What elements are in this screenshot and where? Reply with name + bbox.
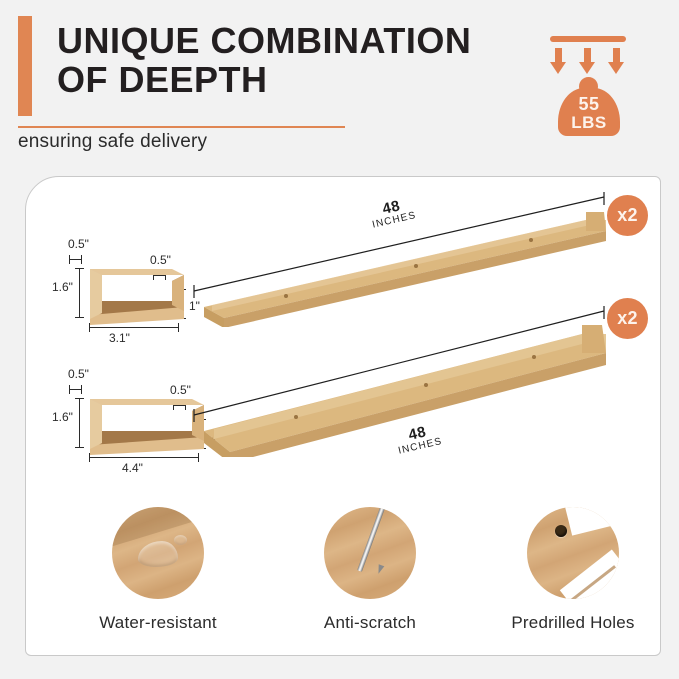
dim-top-left-thickness: 0.5" xyxy=(68,367,89,381)
wood-edge-corner xyxy=(560,550,619,599)
feature-label: Predrilled Holes xyxy=(483,613,663,633)
dim-marker-height xyxy=(79,268,80,318)
title-divider xyxy=(18,126,345,128)
dim-marker-width xyxy=(89,327,179,328)
weight-capacity-badge: 55 LBS xyxy=(540,26,660,138)
header: UNIQUE COMBINATION OF DEEPTH ensuring sa… xyxy=(0,0,679,170)
title-line-1: UNIQUE COMBINATION xyxy=(57,22,527,61)
subtitle: ensuring safe delivery xyxy=(18,131,207,153)
dim-marker-height xyxy=(79,398,80,448)
wood-edge-top xyxy=(561,507,619,536)
dim-marker-top-left xyxy=(69,259,82,260)
drilled-hole-icon xyxy=(527,507,619,599)
water-droplet-shape xyxy=(138,541,178,567)
metal-pin-scratch-icon xyxy=(324,507,416,599)
feature-label: Anti-scratch xyxy=(280,613,460,633)
metal-pin-tip-shape xyxy=(376,564,385,575)
down-arrow-icon xyxy=(613,48,620,64)
dim-width: 3.1" xyxy=(109,331,130,345)
feature-list: Water-resistant Anti-scratch Predrilled … xyxy=(26,507,662,647)
dim-height: 1.6" xyxy=(52,280,73,294)
down-arrow-icon xyxy=(584,48,591,64)
shelf-illustration-deep: 48 INCHES xyxy=(186,297,626,457)
product-diagram-card: 0.5" 0.5" 1.6" 1" 3.1" 0.5" 0.5" 1.6" 1" xyxy=(25,176,661,656)
load-bar-icon xyxy=(550,36,626,42)
feature-label: Water-resistant xyxy=(68,613,248,633)
ledge-profile-illustration xyxy=(86,265,196,327)
dim-top-left-thickness: 0.5" xyxy=(68,237,89,251)
weight-unit: LBS xyxy=(558,113,620,133)
feature-water-resistant: Water-resistant xyxy=(68,507,248,633)
dim-height: 1.6" xyxy=(52,410,73,424)
predrilled-hole-shape xyxy=(555,525,567,537)
dim-width: 4.4" xyxy=(122,461,143,475)
title-line-2: OF DEEPTH xyxy=(57,61,527,100)
feature-anti-scratch: Anti-scratch xyxy=(280,507,460,633)
dim-marker-top-left xyxy=(69,389,82,390)
accent-bar xyxy=(18,16,32,116)
weight-value: 55 xyxy=(558,94,620,115)
down-arrow-icon xyxy=(555,48,562,64)
page-title: UNIQUE COMBINATION OF DEEPTH xyxy=(57,22,527,99)
quantity-badge-shelf-1: x2 xyxy=(607,195,648,236)
metal-pin-shape xyxy=(357,507,385,572)
dim-marker-width xyxy=(89,457,199,458)
quantity-badge-shelf-2: x2 xyxy=(607,298,648,339)
water-drop-on-wood-icon xyxy=(112,507,204,599)
feature-predrilled-holes: Predrilled Holes xyxy=(483,507,663,633)
water-droplet-small-shape xyxy=(174,535,187,545)
